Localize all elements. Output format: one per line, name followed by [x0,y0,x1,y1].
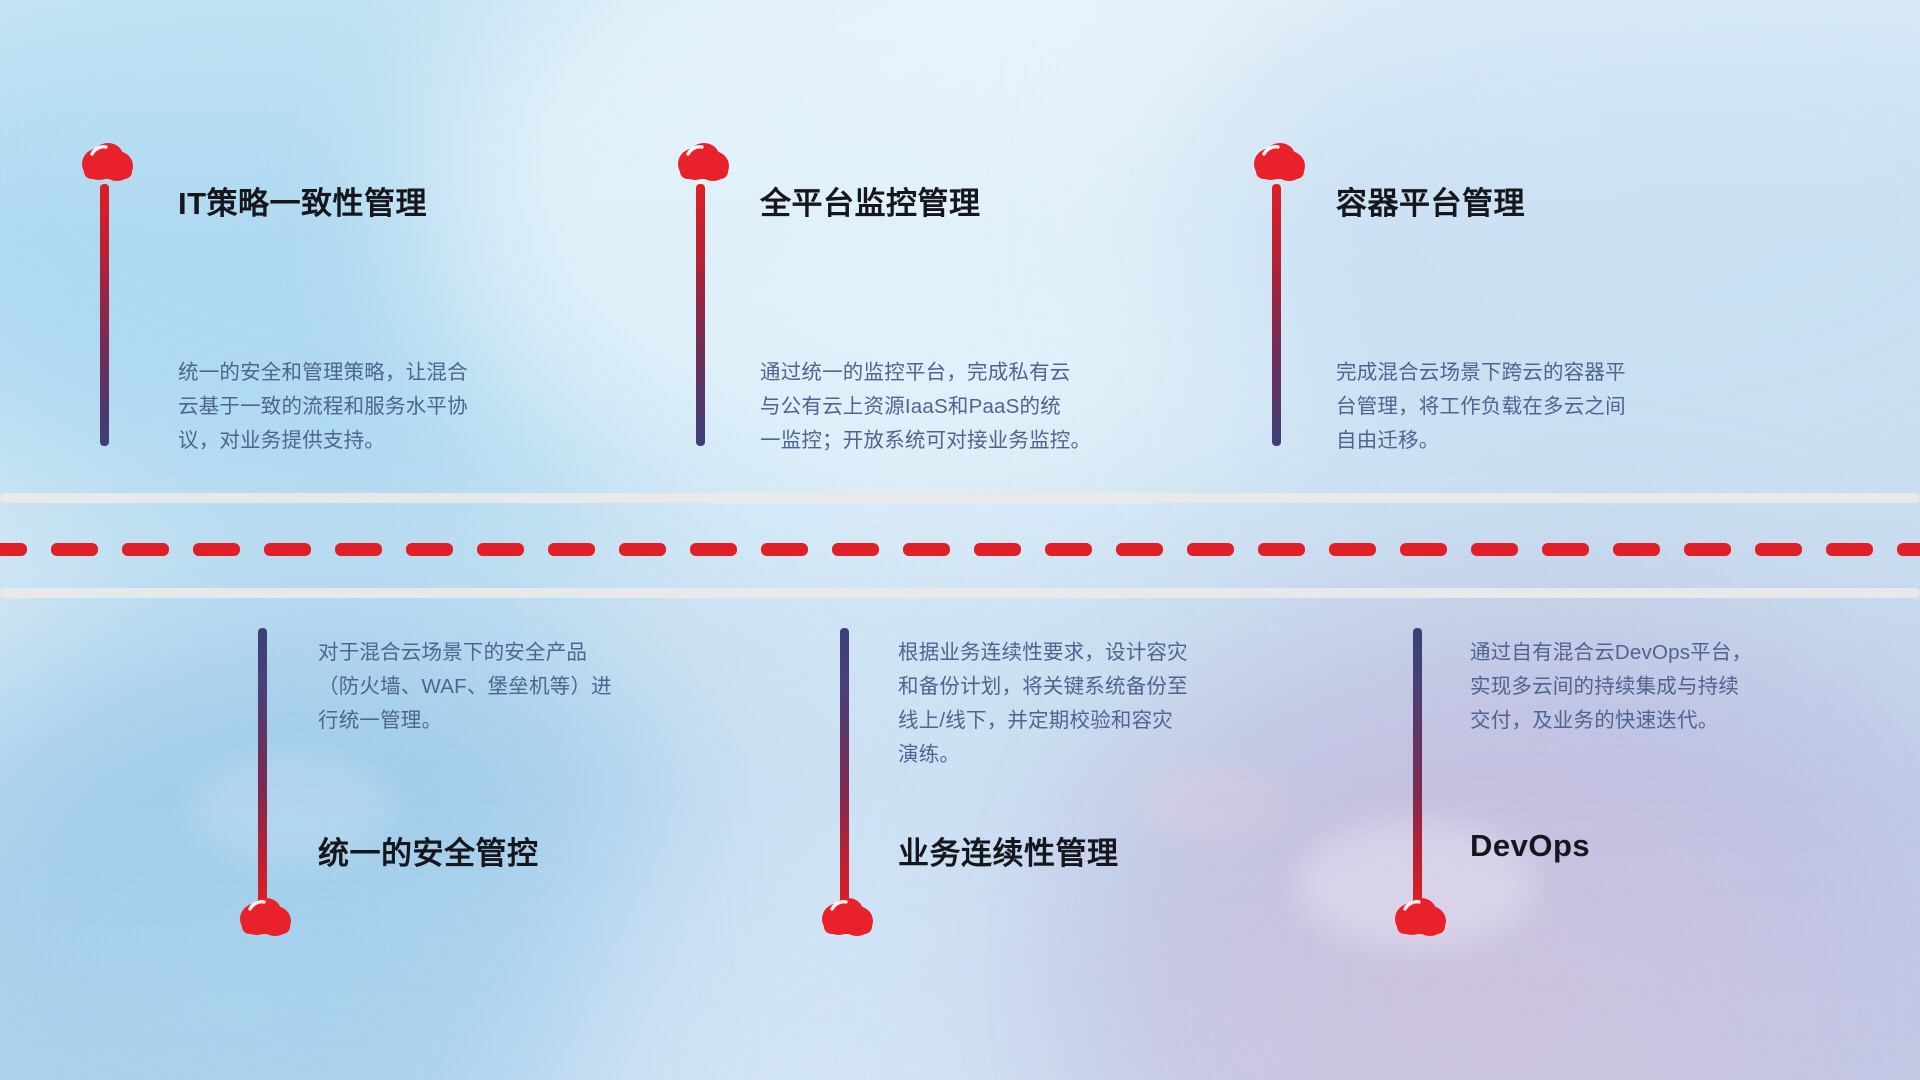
card-title: 容器平台管理 [1336,178,1525,223]
divider-dash [1613,543,1660,556]
divider-dash [193,543,240,556]
divider-dash [1400,543,1447,556]
card-body: 完成混合云场景下跨云的容器平 台管理，将工作负载在多云之间 自由迁移。 [1336,356,1766,458]
pin-stem [696,184,705,446]
divider-dash [761,543,808,556]
divider-dash [51,543,98,556]
card-title: 全平台监控管理 [760,178,981,223]
card-title: DevOps [1470,828,1590,864]
divider-dash [619,543,666,556]
divider-dash [1755,543,1802,556]
divider-dash [548,543,595,556]
pin-stem [1272,184,1281,446]
pin-stem [258,628,267,916]
cloud-icon [237,895,295,939]
divider-dash [406,543,453,556]
cloud-icon [1392,895,1450,939]
pin-stem [1413,628,1422,916]
card-body: 通过统一的监控平台，完成私有云 与公有云上资源IaaS和PaaS的统 一监控；开… [760,356,1200,458]
divider-dash [1258,543,1305,556]
divider-dash [1329,543,1376,556]
divider-dash [1116,543,1163,556]
divider-dash [1897,543,1920,556]
divider-dash [264,543,311,556]
divider-dash [690,543,737,556]
divider-dash [122,543,169,556]
card-body: 通过自有混合云DevOps平台， 实现多云间的持续集成与持续 交付，及业务的快速… [1470,636,1890,738]
cloud-icon [1251,140,1309,184]
card-title: 统一的安全管控 [318,828,539,873]
pin-stem [840,628,849,916]
cloud-icon [675,140,733,184]
cloud-icon [79,140,137,184]
card-body: 根据业务连续性要求，设计容灾 和备份计划，将关键系统备份至 线上/线下，并定期校… [898,636,1338,772]
pin-stem [100,184,109,446]
divider-dash [1471,543,1518,556]
divider-dash [974,543,1021,556]
divider-dash [832,543,879,556]
divider-dash [1045,543,1092,556]
divider-dash [0,543,27,556]
infographic-stage: IT策略一致性管理 统一的安全和管理策略，让混合 云基于一致的流程和服务水平协 … [0,0,1920,1080]
divider-dash [1187,543,1234,556]
divider-dash [1684,543,1731,556]
divider-dash [1542,543,1589,556]
divider-dash [1826,543,1873,556]
divider-dash [903,543,950,556]
divider-bar-top [0,493,1920,503]
divider-dash [335,543,382,556]
cloud-icon [819,895,877,939]
card-body: 对于混合云场景下的安全产品 （防火墙、WAF、堡垒机等）进 行统一管理。 [318,636,748,738]
divider-bar-bottom [0,588,1920,598]
card-title: IT策略一致性管理 [178,178,427,223]
divider-dash [477,543,524,556]
card-title: 业务连续性管理 [898,828,1119,873]
card-body: 统一的安全和管理策略，让混合 云基于一致的流程和服务水平协 议，对业务提供支持。 [178,356,608,458]
dashed-divider [0,543,1920,556]
